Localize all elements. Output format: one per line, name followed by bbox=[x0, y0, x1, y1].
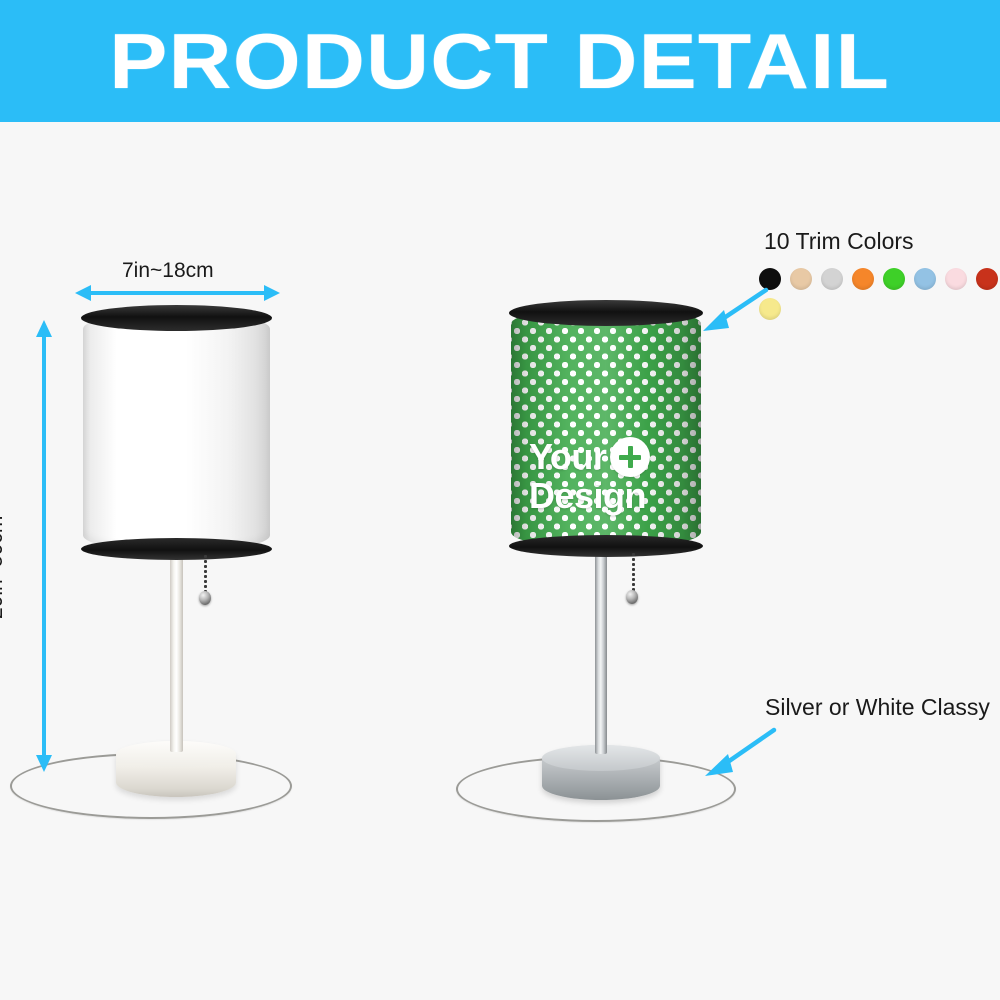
trim-swatch-light-gray[interactable] bbox=[821, 268, 843, 290]
height-dimension-arrow bbox=[33, 320, 55, 772]
height-dimension-label: 20in~50cm bbox=[0, 516, 8, 619]
design-line-1-row: Your bbox=[529, 437, 650, 477]
base-finish-pointer-arrow bbox=[700, 724, 780, 780]
page-title: PRODUCT DETAIL bbox=[110, 22, 891, 100]
shade-trim-bottom bbox=[509, 535, 703, 557]
width-dimension-arrow bbox=[75, 282, 280, 304]
trim-color-row-1 bbox=[759, 268, 998, 290]
pull-chain[interactable] bbox=[204, 554, 207, 596]
design-placeholder: Your Design bbox=[529, 437, 650, 515]
shade-trim-bottom bbox=[81, 538, 272, 560]
trim-colors-label: 10 Trim Colors bbox=[764, 228, 914, 255]
shade-trim-top bbox=[81, 305, 272, 331]
lamp-pole bbox=[595, 554, 607, 754]
lamp-shade bbox=[83, 312, 270, 552]
pull-chain-ball[interactable] bbox=[199, 591, 211, 605]
product-detail-banner: PRODUCT DETAIL bbox=[0, 0, 1000, 122]
plus-icon bbox=[610, 437, 650, 477]
base-finish-label: Silver or White Classy bbox=[765, 694, 990, 721]
product-detail-stage: Your Design 7in~18cm 20in~50cm 10 Trim C… bbox=[0, 122, 1000, 1000]
design-line-2: Design bbox=[529, 477, 650, 515]
trim-color-swatches bbox=[759, 268, 998, 328]
trim-swatch-tan[interactable] bbox=[790, 268, 812, 290]
trim-swatch-light-blue[interactable] bbox=[914, 268, 936, 290]
lamp-pole bbox=[170, 552, 183, 752]
width-dimension-label: 7in~18cm bbox=[122, 259, 214, 283]
trim-swatch-red[interactable] bbox=[976, 268, 998, 290]
trim-colors-pointer-arrow bbox=[700, 284, 772, 334]
trim-swatch-orange[interactable] bbox=[852, 268, 874, 290]
lamp-shade: Your Design bbox=[511, 307, 701, 549]
trim-swatch-green[interactable] bbox=[883, 268, 905, 290]
pull-chain-ball[interactable] bbox=[626, 590, 638, 604]
trim-swatch-pink[interactable] bbox=[945, 268, 967, 290]
design-line-1: Your bbox=[529, 438, 606, 476]
lamp-shade-surface bbox=[83, 312, 270, 552]
trim-color-row-2 bbox=[759, 298, 998, 320]
shade-trim-top bbox=[509, 300, 703, 326]
